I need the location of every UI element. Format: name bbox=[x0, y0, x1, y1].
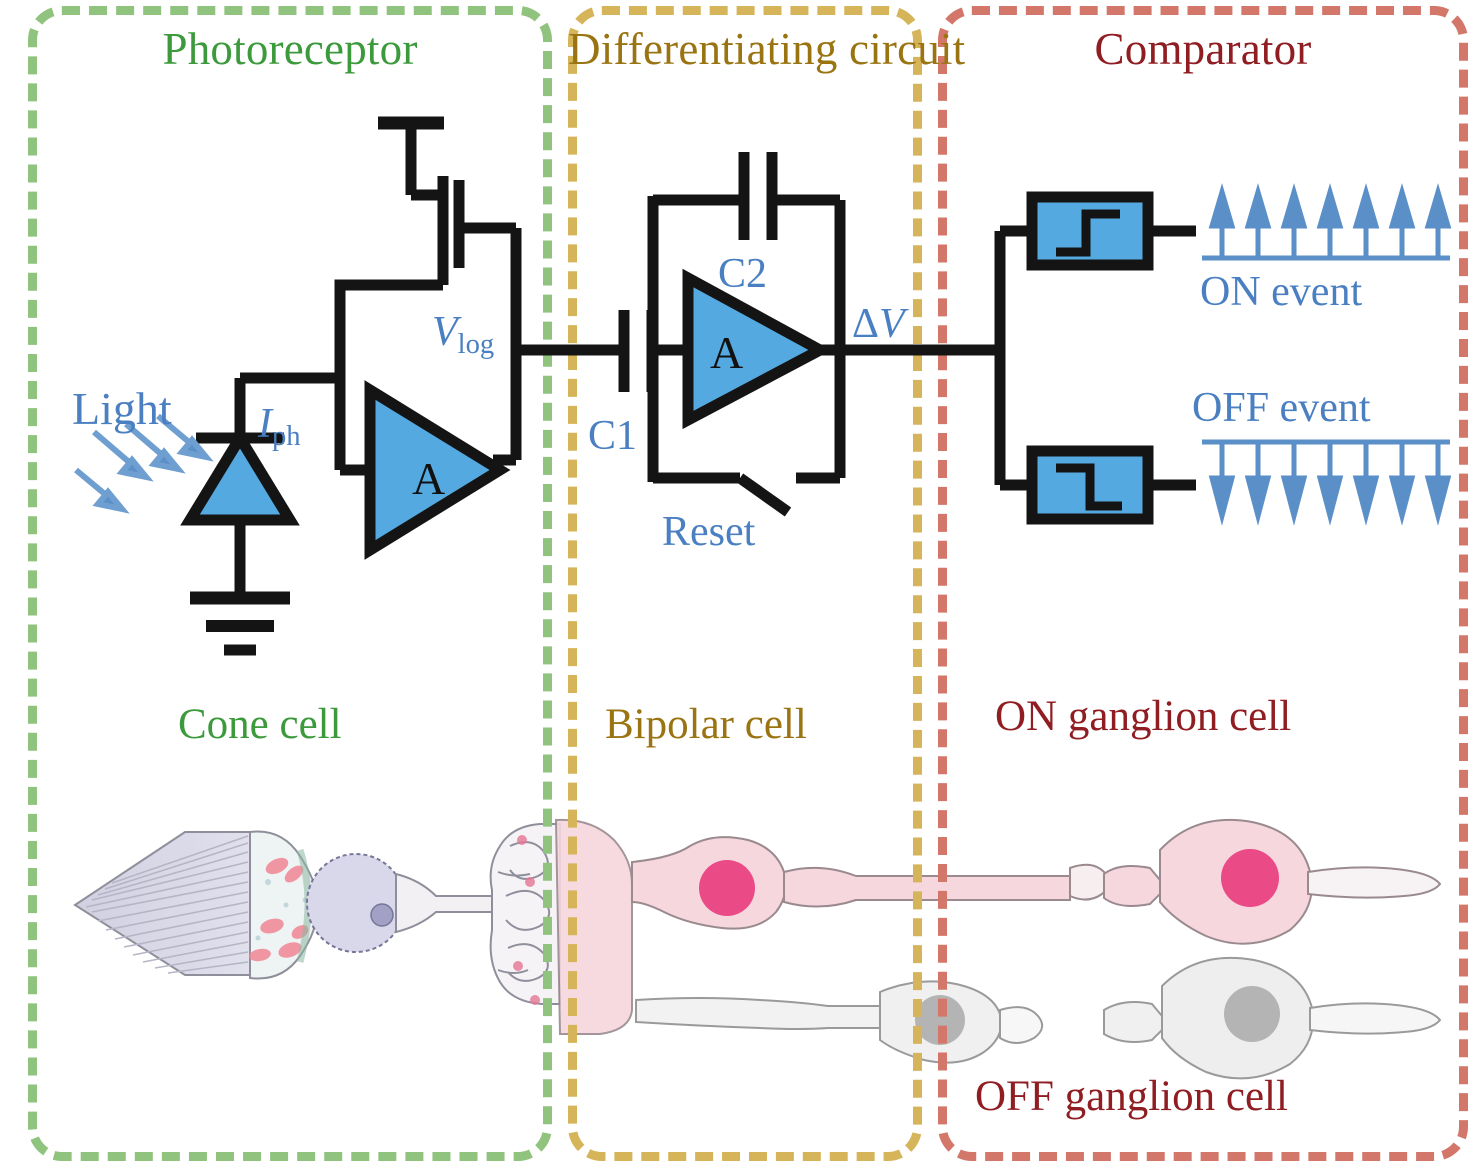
c1-label: C1 bbox=[588, 412, 637, 460]
reset-label: Reset bbox=[662, 508, 755, 556]
svg-text:A: A bbox=[710, 327, 743, 378]
on-comparator-block bbox=[1032, 197, 1148, 265]
panel-title-photoreceptor: Photoreceptor bbox=[28, 26, 552, 73]
off-event-arrows-icon bbox=[1202, 442, 1450, 516]
panel-title-differentiating: Differentiating circuit bbox=[568, 26, 922, 73]
light-label: Light bbox=[72, 382, 172, 435]
svg-text:A: A bbox=[412, 453, 445, 504]
differentiating-amplifier-icon: A bbox=[688, 278, 820, 420]
photocurrent-symbol: I bbox=[258, 401, 272, 447]
delta-voltage-label: ΔV bbox=[852, 300, 905, 348]
vdd-rail bbox=[378, 123, 444, 195]
photocurrent-subscript: ph bbox=[272, 421, 301, 452]
photoreceptor-amplifier-icon: A bbox=[370, 390, 500, 550]
log-voltage-subscript: log bbox=[458, 329, 494, 360]
bipolar-cell-caption: Bipolar cell bbox=[605, 700, 807, 749]
log-voltage-symbol: V bbox=[432, 309, 458, 355]
circuit-schematic: A A bbox=[0, 0, 1476, 1167]
on-event-arrows-icon bbox=[1202, 192, 1450, 258]
photocurrent-label: Iph bbox=[258, 400, 301, 453]
c1-capacitor-icon bbox=[624, 310, 652, 392]
off-event-label: OFF event bbox=[1192, 384, 1371, 432]
cone-cell-caption: Cone cell bbox=[178, 700, 342, 749]
c2-capacitor-icon bbox=[744, 152, 772, 240]
off-ganglion-cell-caption: OFF ganglion cell bbox=[975, 1072, 1288, 1121]
panel-title-comparator: Comparator bbox=[938, 26, 1468, 73]
mosfet-transistor bbox=[411, 176, 516, 285]
off-comparator-block bbox=[1032, 451, 1148, 519]
on-event-label: ON event bbox=[1200, 268, 1362, 316]
ground-icon bbox=[190, 598, 290, 650]
delta-voltage-symbol: V bbox=[879, 301, 905, 347]
diagram-stage: A A bbox=[0, 0, 1476, 1167]
c2-label: C2 bbox=[718, 250, 767, 298]
log-voltage-label: Vlog bbox=[432, 308, 494, 361]
on-ganglion-cell-caption: ON ganglion cell bbox=[995, 692, 1291, 741]
delta-symbol: Δ bbox=[852, 301, 879, 347]
